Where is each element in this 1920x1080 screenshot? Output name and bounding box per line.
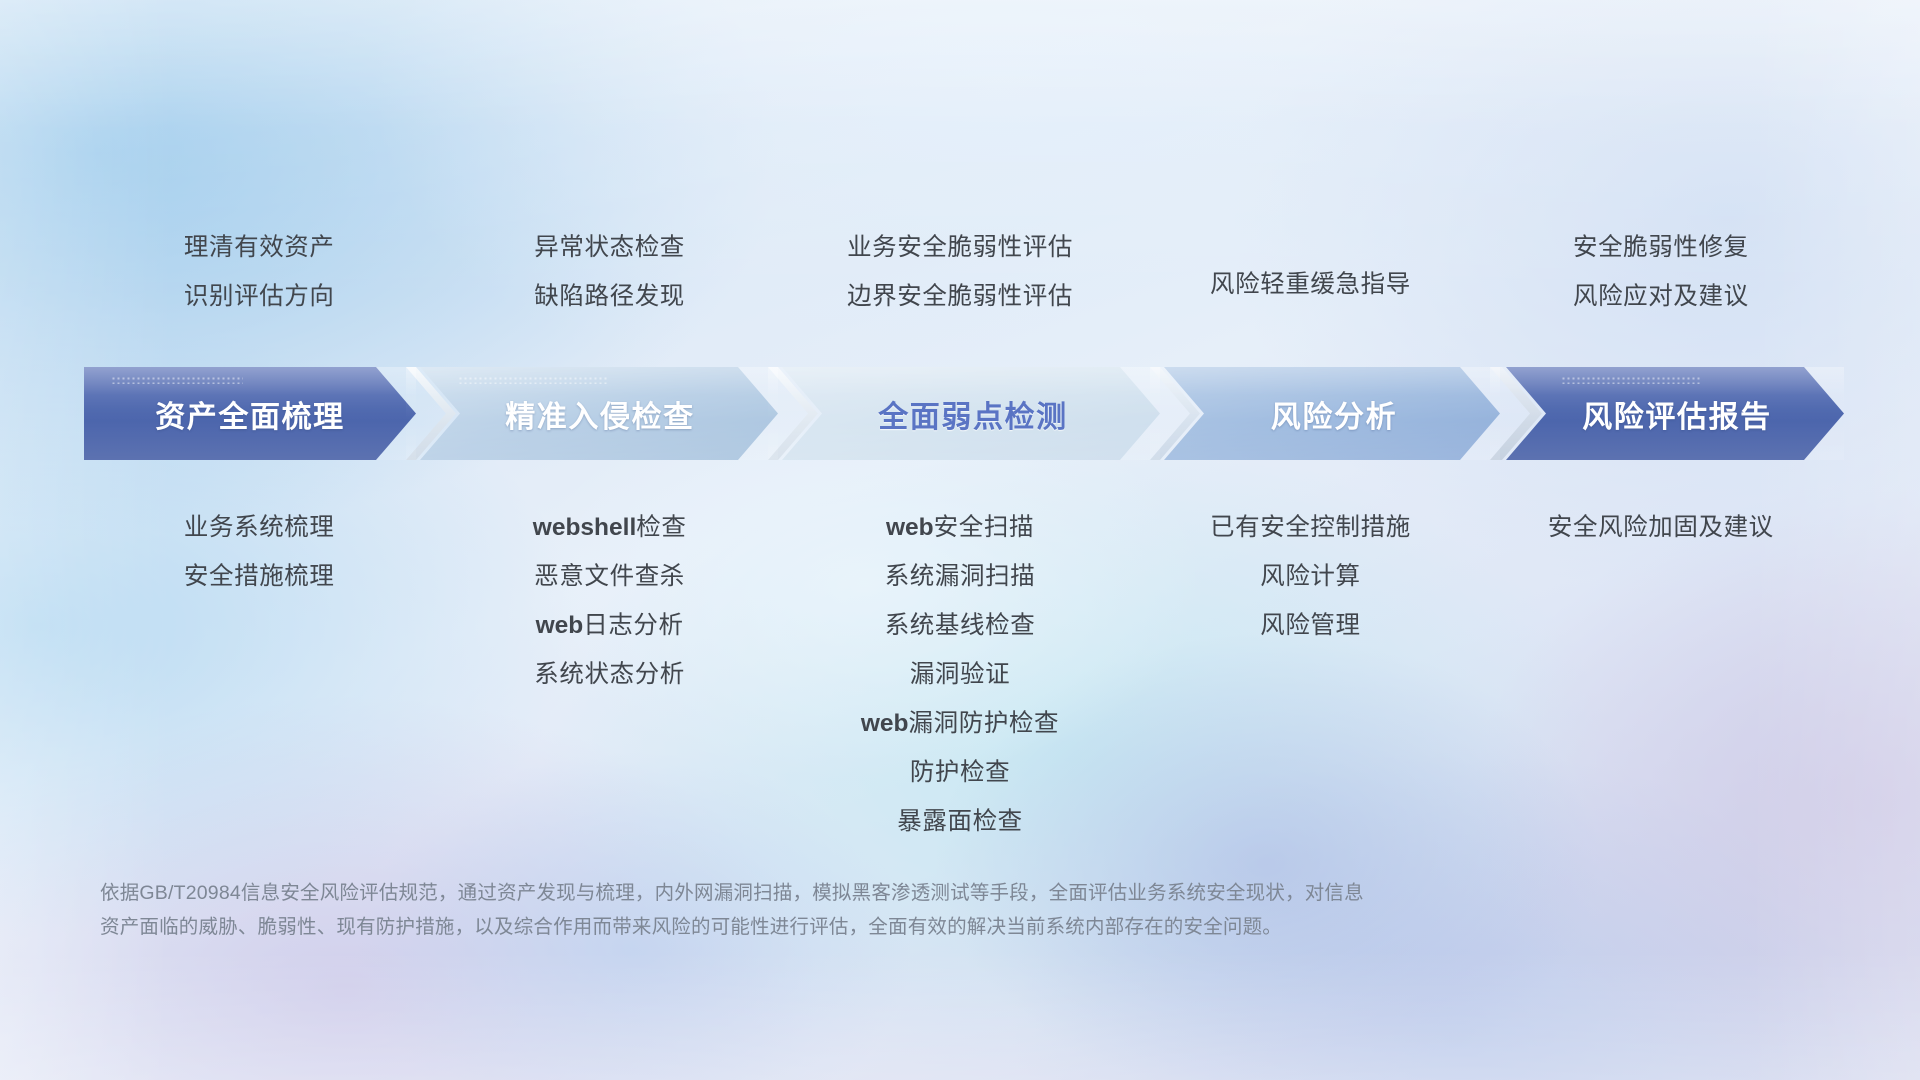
bottom-item-latin: web <box>886 514 934 541</box>
bottom-item: web安全扫描 <box>886 516 1034 541</box>
bottom-items-row: 业务系统梳理 安全措施梳理 webshell检查 恶意文件查杀 web日志分析 … <box>84 516 1836 835</box>
top-items-weakness-detection: 业务安全脆弱性评估 边界安全脆弱性评估 <box>785 236 1135 309</box>
bottom-items-intrusion-check: webshell检查 恶意文件查杀 web日志分析 系统状态分析 <box>434 516 784 688</box>
bottom-item: 风险管理 <box>1260 614 1360 639</box>
top-item: 边界安全脆弱性评估 <box>847 285 1073 310</box>
top-item: 识别评估方向 <box>184 285 335 310</box>
bottom-item: 风险计算 <box>1260 565 1360 590</box>
stage-arrow-risk-analysis[interactable]: 风险分析 <box>1150 367 1500 460</box>
bottom-item-cn: 系统状态分析 <box>534 661 685 688</box>
bottom-item: 已有安全控制措施 <box>1210 516 1411 541</box>
top-items-risk-report: 安全脆弱性修复 风险应对及建议 <box>1486 236 1836 309</box>
top-item: 风险轻重缓急指导 <box>1210 273 1411 298</box>
top-item: 业务安全脆弱性评估 <box>847 236 1073 261</box>
stage-arrow-risk-report[interactable]: 风险评估报告 <box>1490 367 1844 460</box>
bottom-item: 安全措施梳理 <box>184 565 335 590</box>
stage-label: 风险分析 <box>1271 392 1397 436</box>
footer-line: 依据GB/T20984信息安全风险评估规范，通过资产发现与梳理，内外网漏洞扫描，… <box>100 876 1740 910</box>
bottom-item-cn: 风险计算 <box>1260 563 1360 590</box>
stage-arrow-weakness-detection[interactable]: 全面弱点检测 <box>768 367 1160 460</box>
bottom-item-cn: 风险管理 <box>1260 612 1360 639</box>
stage-label: 精准入侵检查 <box>505 392 695 436</box>
bottom-item: 防护检查 <box>910 761 1010 786</box>
top-item: 理清有效资产 <box>184 236 335 261</box>
stage-label: 全面弱点检测 <box>878 392 1068 436</box>
top-item: 安全脆弱性修复 <box>1573 236 1749 261</box>
bottom-item-cn: 漏洞防护检查 <box>909 710 1060 737</box>
bottom-item-cn: 日志分析 <box>583 612 683 639</box>
bottom-item-latin: web <box>861 710 909 737</box>
footer-description: 依据GB/T20984信息安全风险评估规范，通过资产发现与梳理，内外网漏洞扫描，… <box>100 876 1740 944</box>
top-items-asset-inventory: 理清有效资产 识别评估方向 <box>84 236 434 309</box>
diagram-content: 理清有效资产 识别评估方向 异常状态检查 缺陷路径发现 业务安全脆弱性评估 边界… <box>0 0 1920 1080</box>
bottom-item-cn: 已有安全控制措施 <box>1210 514 1411 541</box>
bottom-item: web漏洞防护检查 <box>861 712 1059 737</box>
slide-canvas: 理清有效资产 识别评估方向 异常状态检查 缺陷路径发现 业务安全脆弱性评估 边界… <box>0 0 1920 1080</box>
bottom-item-cn: 暴露面检查 <box>897 808 1023 835</box>
bottom-item-cn: 漏洞验证 <box>910 661 1010 688</box>
bottom-item: 系统漏洞扫描 <box>885 565 1036 590</box>
bottom-items-risk-report: 安全风险加固及建议 <box>1486 516 1836 541</box>
bottom-item: 系统基线检查 <box>885 614 1036 639</box>
bottom-item-cn: 系统基线检查 <box>885 612 1036 639</box>
process-arrow-band: 资产全面梳理 <box>84 367 1844 460</box>
bottom-item: 暴露面检查 <box>897 810 1023 835</box>
top-item: 异常状态检查 <box>534 236 685 261</box>
stage-label: 风险评估报告 <box>1582 392 1772 436</box>
stage-arrow-intrusion-check[interactable]: 精准入侵检查 <box>406 367 778 460</box>
bottom-items-risk-analysis: 已有安全控制措施 风险计算 风险管理 <box>1135 516 1485 639</box>
bottom-item: webshell检查 <box>533 516 687 541</box>
top-item: 风险应对及建议 <box>1573 285 1749 310</box>
bottom-item-latin: web <box>536 612 584 639</box>
bottom-item: 漏洞验证 <box>910 663 1010 688</box>
bottom-item: 业务系统梳理 <box>184 516 335 541</box>
bottom-item-cn: 业务系统梳理 <box>184 514 335 541</box>
footer-line: 资产面临的威胁、脆弱性、现有防护措施，以及综合作用而带来风险的可能性进行评估，全… <box>100 910 1740 944</box>
bottom-item: 系统状态分析 <box>534 663 685 688</box>
top-items-row: 理清有效资产 识别评估方向 异常状态检查 缺陷路径发现 业务安全脆弱性评估 边界… <box>84 236 1836 309</box>
top-items-intrusion-check: 异常状态检查 缺陷路径发现 <box>434 236 784 309</box>
bottom-item-cn: 检查 <box>636 514 686 541</box>
top-item: 缺陷路径发现 <box>534 285 685 310</box>
bottom-item-cn: 防护检查 <box>910 759 1010 786</box>
stage-arrow-asset-inventory[interactable]: 资产全面梳理 <box>84 367 416 460</box>
bottom-item-cn: 安全措施梳理 <box>184 563 335 590</box>
bottom-item-cn: 安全风险加固及建议 <box>1548 514 1774 541</box>
stage-label: 资产全面梳理 <box>155 392 345 436</box>
bottom-item: web日志分析 <box>536 614 684 639</box>
bottom-item-latin: webshell <box>533 514 636 541</box>
bottom-items-asset-inventory: 业务系统梳理 安全措施梳理 <box>84 516 434 590</box>
bottom-item: 安全风险加固及建议 <box>1548 516 1774 541</box>
top-items-risk-analysis: 风险轻重缓急指导 <box>1135 236 1485 309</box>
bottom-item-cn: 恶意文件查杀 <box>534 563 685 590</box>
bottom-item-cn: 系统漏洞扫描 <box>885 563 1036 590</box>
bottom-item: 恶意文件查杀 <box>534 565 685 590</box>
bottom-items-weakness-detection: web安全扫描 系统漏洞扫描 系统基线检查 漏洞验证 web漏洞防护检查 防护检… <box>785 516 1135 835</box>
bottom-item-cn: 安全扫描 <box>934 514 1034 541</box>
